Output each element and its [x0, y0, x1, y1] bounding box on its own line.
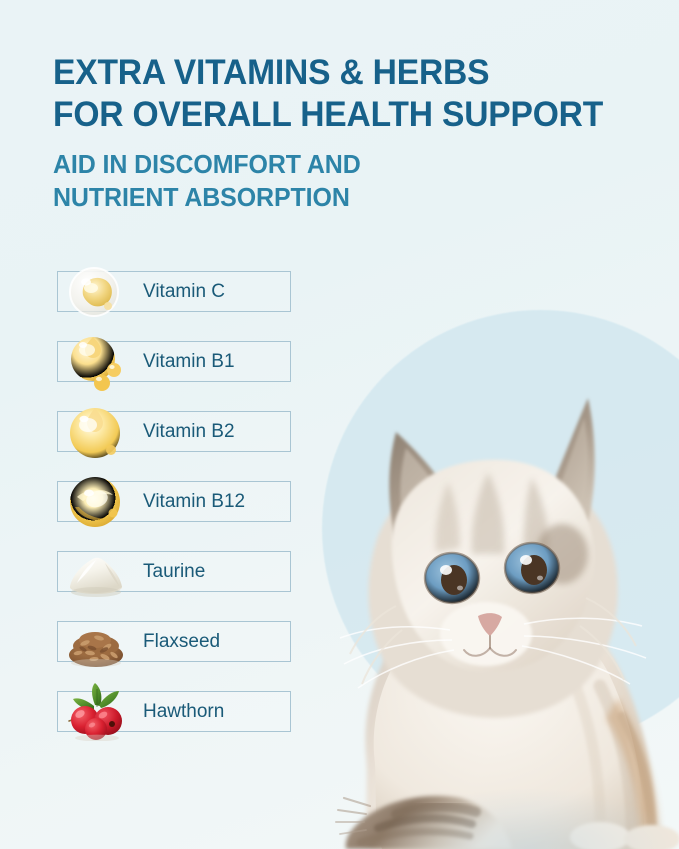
- ingredient-row-vitamin-b12: Vitamin B12: [57, 481, 291, 522]
- taurine-powder-icon: [61, 543, 133, 601]
- page-title: EXTRA VITAMINS & HERBS FOR OVERALL HEALT…: [53, 52, 653, 136]
- ingredient-label: Vitamin B1: [143, 351, 235, 373]
- ingredient-label: Hawthorn: [143, 701, 224, 723]
- product-infographic: EXTRA VITAMINS & HERBS FOR OVERALL HEALT…: [0, 0, 679, 849]
- cat-photo: [300, 286, 679, 849]
- ingredient-label: Vitamin B2: [143, 421, 235, 443]
- ingredient-label: Vitamin B12: [143, 491, 245, 513]
- vitamin-c-bubble-icon: [61, 263, 133, 321]
- headline-line-1: EXTRA VITAMINS & HERBS: [53, 52, 629, 94]
- ingredient-row-hawthorn: Hawthorn: [57, 691, 291, 732]
- vitamin-b1-droplet-icon: [61, 333, 133, 391]
- ingredient-label: Taurine: [143, 561, 205, 583]
- floor-shadow: [380, 789, 679, 849]
- flaxseed-pile-icon: [61, 613, 133, 671]
- ingredient-list: Vitamin C: [57, 271, 291, 732]
- ingredient-row-flaxseed: Flaxseed: [57, 621, 291, 662]
- ingredient-row-vitamin-c: Vitamin C: [57, 271, 291, 312]
- ingredient-label: Vitamin C: [143, 281, 225, 303]
- subhead-line-2: NUTRIENT ABSORPTION: [53, 181, 552, 214]
- headline-line-2: FOR OVERALL HEALTH SUPPORT: [53, 94, 629, 136]
- vitamin-b12-droplet-icon: [61, 473, 133, 531]
- ingredient-label: Flaxseed: [143, 631, 220, 653]
- vitamin-b2-droplet-icon: [61, 403, 133, 461]
- subhead-line-1: AID IN DISCOMFORT AND: [53, 148, 552, 181]
- hawthorn-berries-icon: [61, 683, 133, 741]
- ingredient-row-vitamin-b2: Vitamin B2: [57, 411, 291, 452]
- page-subtitle: AID IN DISCOMFORT AND NUTRIENT ABSORPTIO…: [53, 148, 573, 214]
- ingredient-row-vitamin-b1: Vitamin B1: [57, 341, 291, 382]
- ingredient-row-taurine: Taurine: [57, 551, 291, 592]
